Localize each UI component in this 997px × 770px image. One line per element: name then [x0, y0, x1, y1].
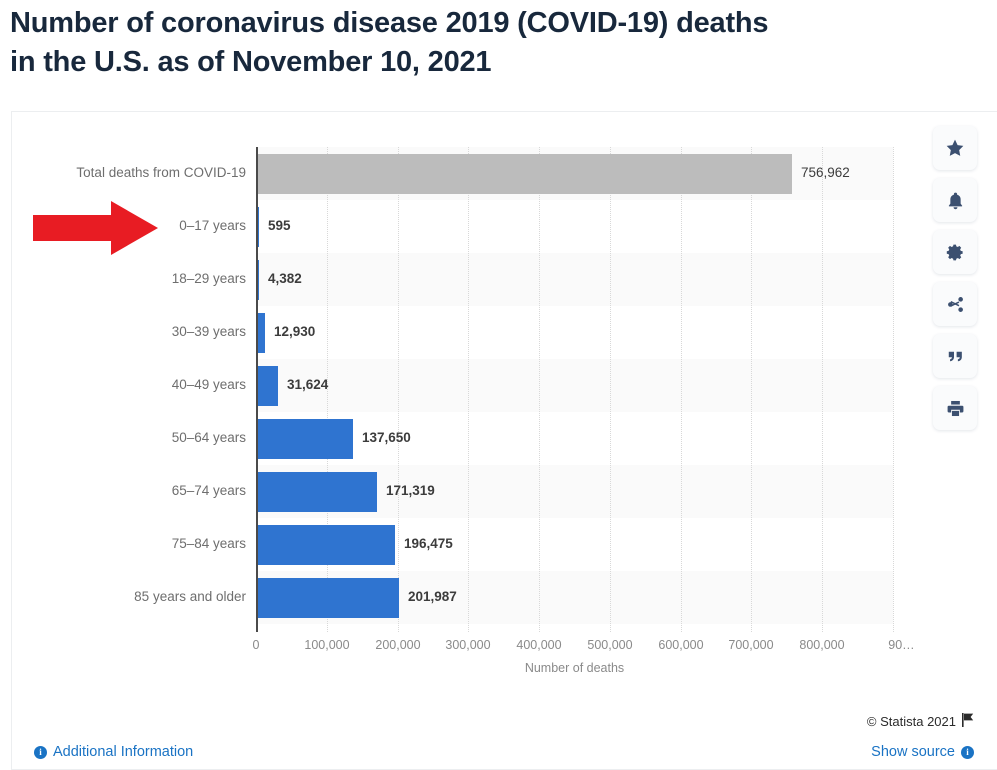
print-button[interactable] — [933, 386, 977, 430]
share-icon — [946, 295, 965, 314]
chart-gridline — [893, 147, 895, 632]
chart-row-band — [256, 359, 893, 412]
citation-quote-icon — [946, 347, 965, 366]
settings-button[interactable] — [933, 230, 977, 274]
x-axis-tick-label: 200,000 — [375, 638, 420, 652]
bar-value-label: 12,930 — [274, 324, 315, 339]
x-axis-tick-label: 700,000 — [728, 638, 773, 652]
chart-gridline — [539, 147, 541, 632]
x-axis-tick-label: 400,000 — [516, 638, 561, 652]
bar-value-label: 196,475 — [404, 536, 453, 551]
x-axis-tick-label: 300,000 — [445, 638, 490, 652]
bar-value-label: 4,382 — [268, 271, 302, 286]
chart-row-band — [256, 253, 893, 306]
favorite-button[interactable] — [933, 126, 977, 170]
favorite-icon — [945, 138, 965, 158]
bar-value-label: 171,319 — [386, 483, 435, 498]
show-source-label: Show source — [871, 744, 955, 760]
settings-gear-icon — [946, 243, 965, 262]
x-axis-tick-label: 800,000 — [799, 638, 844, 652]
category-label: 30–39 years — [16, 324, 246, 339]
copyright-text: © Statista 2021 — [867, 714, 956, 729]
x-axis-tick-label: 500,000 — [587, 638, 632, 652]
chart-actions-toolbar — [933, 126, 977, 438]
chart-gridline — [751, 147, 753, 632]
x-axis-tick-label: 600,000 — [658, 638, 703, 652]
copyright-notice: © Statista 2021 — [867, 713, 974, 730]
chart-gridline — [822, 147, 824, 632]
chart-bar[interactable] — [256, 154, 792, 194]
info-icon: i — [961, 746, 974, 759]
category-label: 75–84 years — [16, 536, 246, 551]
bar-value-label: 756,962 — [801, 165, 850, 180]
show-source-link[interactable]: Show source i — [871, 744, 974, 760]
category-label: 65–74 years — [16, 483, 246, 498]
chart-bar[interactable] — [256, 472, 377, 512]
chart-gridline — [468, 147, 470, 632]
category-label: 85 years and older — [16, 589, 246, 604]
chart-bar[interactable] — [256, 419, 353, 459]
y-axis-line — [256, 147, 258, 632]
chart-bar[interactable] — [256, 578, 399, 618]
chart-row-band — [256, 200, 893, 253]
plot-area: 756,9625954,38212,93031,624137,650171,31… — [256, 147, 893, 632]
chart-gridline — [398, 147, 400, 632]
chart-gridline — [681, 147, 683, 632]
cite-button[interactable] — [933, 334, 977, 378]
red-arrow-annotation — [33, 201, 158, 255]
flag-icon[interactable] — [962, 713, 974, 730]
chart-bar[interactable] — [256, 366, 278, 406]
print-icon — [946, 399, 965, 418]
notification-button[interactable] — [933, 178, 977, 222]
bar-value-label: 31,624 — [287, 377, 328, 392]
info-icon: i — [34, 746, 47, 759]
category-label: 18–29 years — [16, 271, 246, 286]
bar-value-label: 595 — [268, 218, 291, 233]
additional-information-label: Additional Information — [53, 744, 193, 760]
category-label: 40–49 years — [16, 377, 246, 392]
additional-information-link[interactable]: i Additional Information — [34, 744, 193, 760]
x-axis-title: Number of deaths — [256, 661, 893, 675]
category-label: 50–64 years — [16, 430, 246, 445]
notification-bell-icon — [946, 191, 965, 210]
bar-value-label: 201,987 — [408, 589, 457, 604]
share-button[interactable] — [933, 282, 977, 326]
x-axis-tick-label: 90… — [888, 638, 914, 652]
x-axis-tick-label: 0 — [253, 638, 260, 652]
chart-row-band — [256, 306, 893, 359]
bar-value-label: 137,650 — [362, 430, 411, 445]
x-axis-tick-label: 100,000 — [304, 638, 349, 652]
category-label: Total deaths from COVID-19 — [16, 165, 246, 180]
chart-gridline — [610, 147, 612, 632]
chart-bar[interactable] — [256, 525, 395, 565]
page-title: Number of coronavirus disease 2019 (COVI… — [10, 0, 960, 82]
